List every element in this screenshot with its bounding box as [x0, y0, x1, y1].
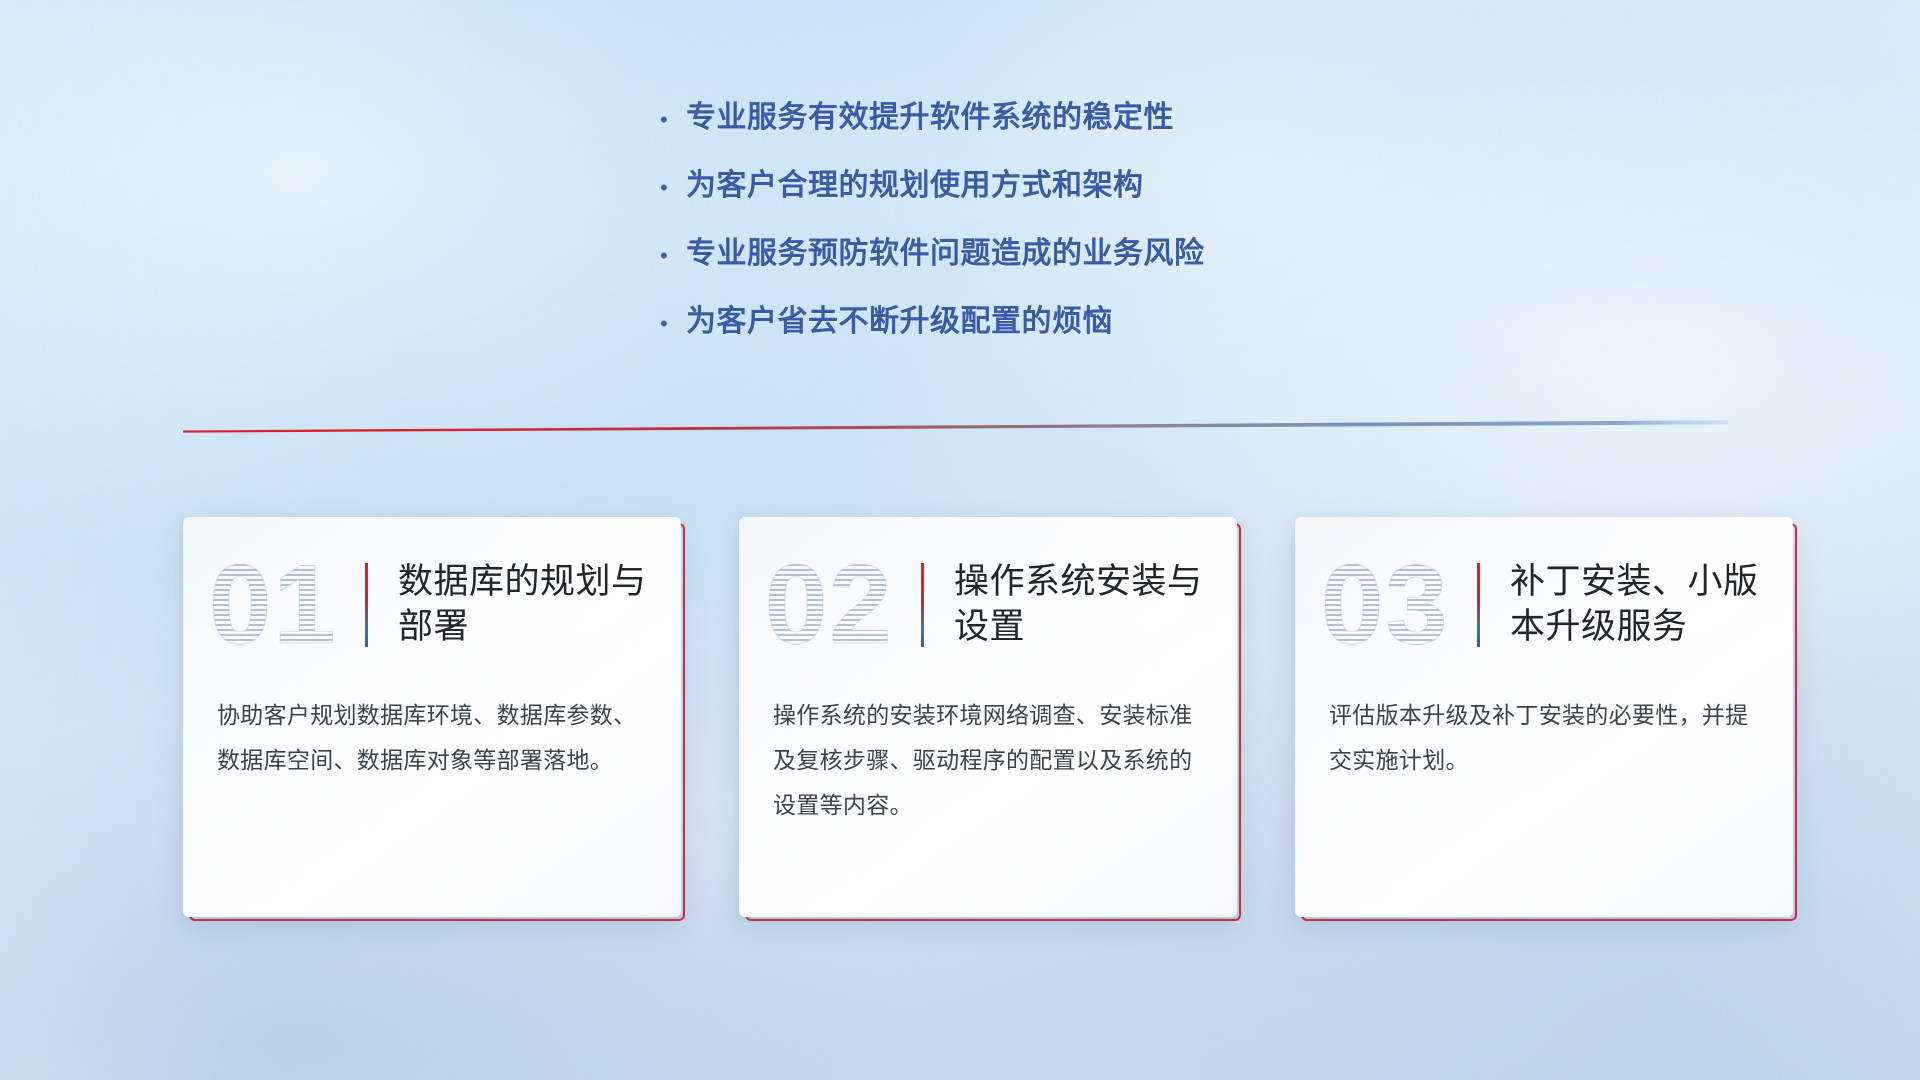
bullet-dot-icon: • [660, 245, 686, 267]
service-card[interactable]: 01 数据库的规划与部署 协助客户规划数据库环境、数据库参数、数据库空间、数据库… [183, 517, 681, 917]
bullet-text: 专业服务有效提升软件系统的稳定性 [686, 100, 1174, 136]
card-header: 03 补丁安装、小版本升级服务 [1295, 517, 1793, 693]
benefits-bullet-list: • 专业服务有效提升软件系统的稳定性 • 为客户合理的规划使用方式和架构 • 专… [660, 100, 1560, 372]
tapered-divider [183, 418, 1728, 436]
list-item: • 专业服务预防软件问题造成的业务风险 [660, 236, 1560, 272]
list-item: • 为客户省去不断升级配置的烦恼 [660, 304, 1560, 340]
card-body-text: 协助客户规划数据库环境、数据库参数、数据库空间、数据库对象等部署落地。 [183, 693, 681, 783]
card-title: 操作系统安装与设置 [954, 560, 1237, 650]
list-item: • 为客户合理的规划使用方式和架构 [660, 168, 1560, 204]
card-body-text: 评估版本升级及补丁安装的必要性，并提交实施计划。 [1295, 693, 1793, 783]
card-divider-rule [365, 563, 368, 647]
card-panel: 01 数据库的规划与部署 协助客户规划数据库环境、数据库参数、数据库空间、数据库… [183, 517, 681, 917]
card-panel: 03 补丁安装、小版本升级服务 评估版本升级及补丁安装的必要性，并提交实施计划。 [1295, 517, 1793, 917]
bullet-text: 为客户省去不断升级配置的烦恼 [686, 304, 1113, 340]
card-body-text: 操作系统的安装环境网络调查、安装标准及复核步骤、驱动程序的配置以及系统的设置等内… [739, 693, 1237, 828]
card-divider-rule [1477, 563, 1480, 647]
bullet-dot-icon: • [660, 177, 686, 199]
bullet-text: 专业服务预防软件问题造成的业务风险 [686, 236, 1205, 272]
card-header: 01 数据库的规划与部署 [183, 517, 681, 693]
card-header: 02 操作系统安装与设置 [739, 517, 1237, 693]
service-card-row: 01 数据库的规划与部署 协助客户规划数据库环境、数据库参数、数据库空间、数据库… [183, 517, 1793, 917]
list-item: • 专业服务有效提升软件系统的稳定性 [660, 100, 1560, 136]
card-panel: 02 操作系统安装与设置 操作系统的安装环境网络调查、安装标准及复核步骤、驱动程… [739, 517, 1237, 917]
service-card[interactable]: 03 补丁安装、小版本升级服务 评估版本升级及补丁安装的必要性，并提交实施计划。 [1295, 517, 1793, 917]
card-title: 数据库的规划与部署 [398, 560, 681, 650]
card-number: 01 [209, 549, 359, 661]
bullet-text: 为客户合理的规划使用方式和架构 [686, 168, 1144, 204]
card-divider-rule [921, 563, 924, 647]
card-number: 03 [1321, 549, 1471, 661]
bullet-dot-icon: • [660, 109, 686, 131]
service-card[interactable]: 02 操作系统安装与设置 操作系统的安装环境网络调查、安装标准及复核步骤、驱动程… [739, 517, 1237, 917]
card-title: 补丁安装、小版本升级服务 [1510, 560, 1793, 650]
card-number: 02 [765, 549, 915, 661]
bullet-dot-icon: • [660, 313, 686, 335]
tapered-divider-shape [183, 418, 1728, 436]
